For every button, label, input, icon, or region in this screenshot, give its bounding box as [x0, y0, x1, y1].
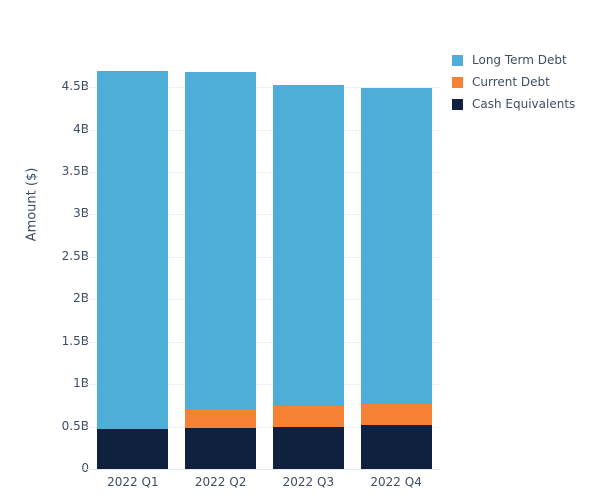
legend-swatch-icon: [452, 77, 463, 88]
y-axis-tick-label: 0: [29, 461, 89, 475]
y-axis-tick-mark: [83, 87, 88, 88]
legend-swatch-icon: [452, 55, 463, 66]
bar-segment[interactable]: [185, 72, 256, 409]
bar-group[interactable]: [361, 88, 432, 469]
bar-segment[interactable]: [185, 428, 256, 469]
x-axis-tick-label: 2022 Q4: [341, 475, 451, 489]
y-axis-tick-label: 4.5B: [29, 79, 89, 93]
legend-label: Current Debt: [472, 75, 550, 89]
bar-segment[interactable]: [361, 404, 432, 425]
legend-label: Long Term Debt: [472, 53, 567, 67]
y-axis-title: Amount ($): [25, 140, 40, 270]
y-axis-tick-mark: [83, 384, 88, 385]
y-axis-tick-mark: [83, 172, 88, 173]
bar-segment[interactable]: [97, 429, 168, 469]
y-axis-tick-container: 00.5B1B1.5B2B2.5B3B3.5B4B4.5B: [0, 0, 89, 500]
plot-area: [89, 60, 440, 469]
y-axis-tick-mark: [83, 342, 88, 343]
bar-segment[interactable]: [273, 85, 344, 407]
bar-segment[interactable]: [273, 427, 344, 469]
bar-segment[interactable]: [273, 406, 344, 427]
y-axis-tick-mark: [83, 299, 88, 300]
legend-label: Cash Equivalents: [472, 97, 575, 111]
x-axis-baseline: [89, 469, 440, 470]
bar-segment[interactable]: [361, 425, 432, 469]
chart-legend: Long Term DebtCurrent DebtCash Equivalen…: [452, 50, 575, 116]
y-axis-tick-mark: [83, 427, 88, 428]
bar-group[interactable]: [97, 71, 168, 469]
y-axis-tick-label: 1.5B: [29, 334, 89, 348]
y-axis-tick-label: 1B: [29, 376, 89, 390]
stacked-bar-chart-figure: 00.5B1B1.5B2B2.5B3B3.5B4B4.5B Amount ($)…: [0, 0, 600, 500]
bar-segment[interactable]: [185, 409, 256, 429]
bar-group[interactable]: [273, 85, 344, 469]
bar-group[interactable]: [185, 72, 256, 469]
bar-segment[interactable]: [97, 71, 168, 429]
y-axis-tick-mark: [83, 469, 88, 470]
y-axis-tick-label: 4B: [29, 122, 89, 136]
y-axis-tick-label: 2B: [29, 291, 89, 305]
legend-swatch-icon: [452, 99, 463, 110]
y-axis-tick-mark: [83, 130, 88, 131]
y-axis-tick-mark: [83, 257, 88, 258]
legend-item[interactable]: Long Term Debt: [452, 50, 575, 70]
y-axis-tick-label: 0.5B: [29, 419, 89, 433]
legend-item[interactable]: Cash Equivalents: [452, 94, 575, 114]
y-axis-tick-mark: [83, 214, 88, 215]
bar-segment[interactable]: [361, 88, 432, 404]
legend-item[interactable]: Current Debt: [452, 72, 575, 92]
